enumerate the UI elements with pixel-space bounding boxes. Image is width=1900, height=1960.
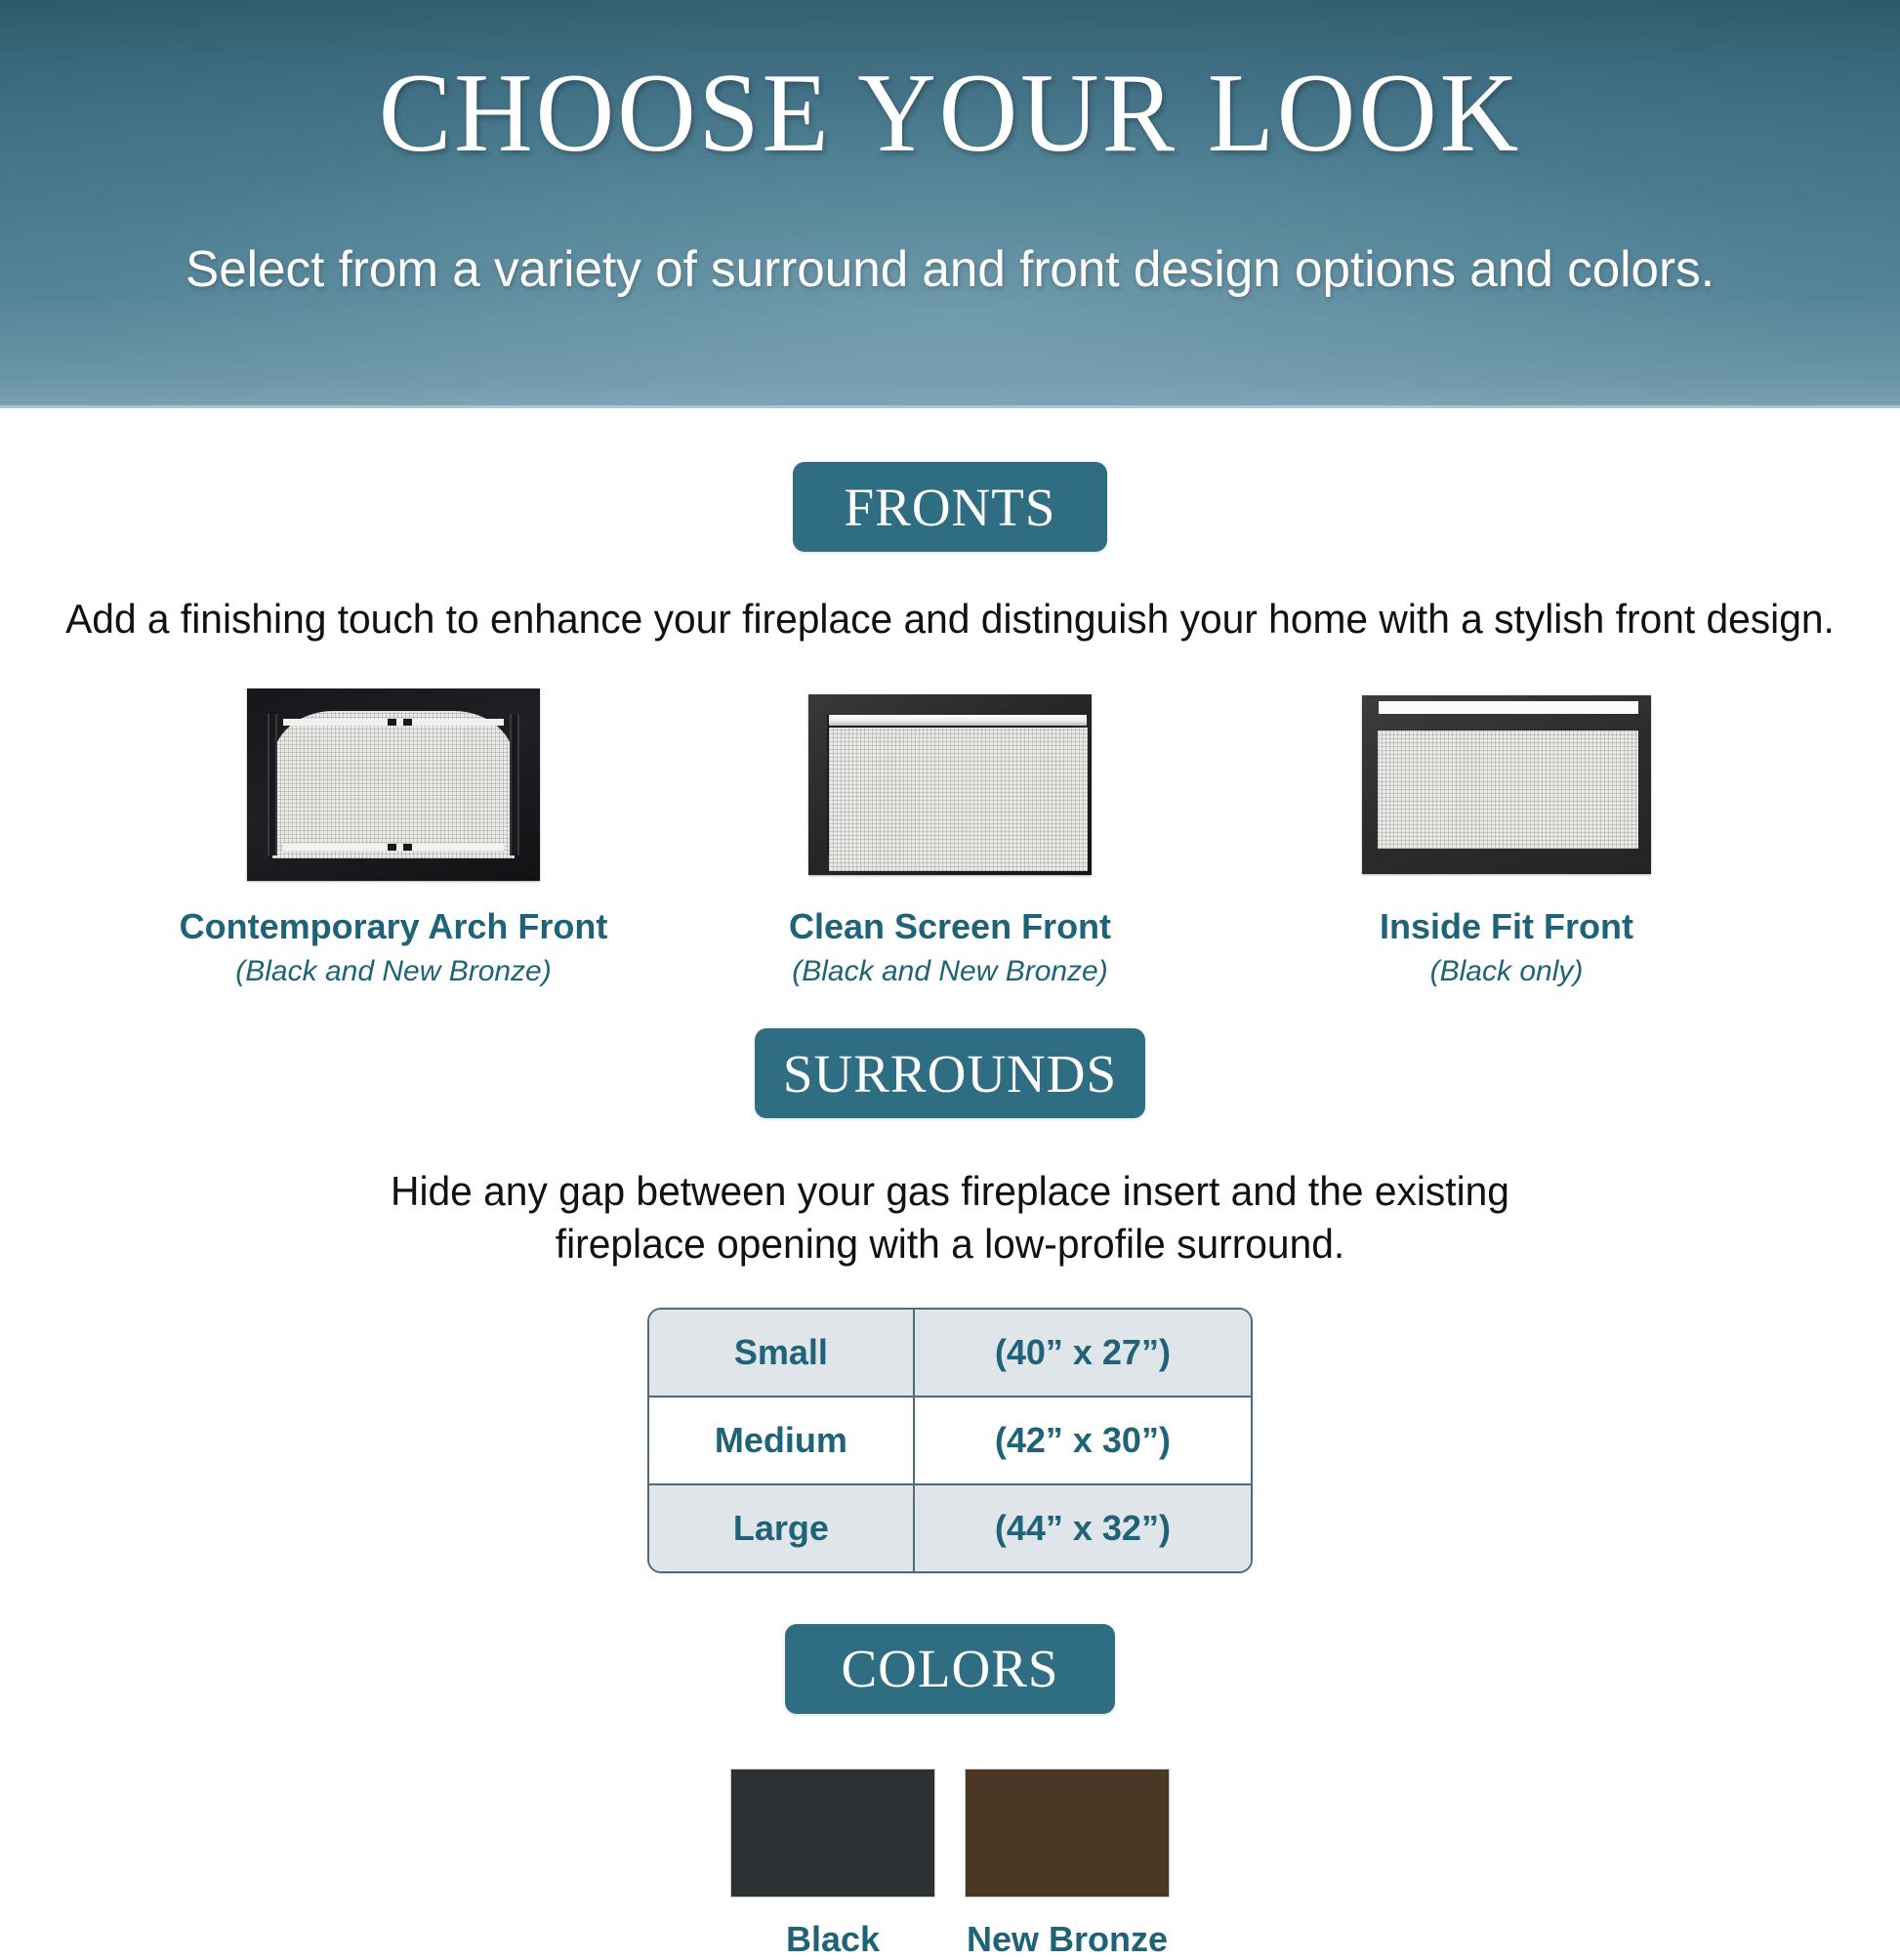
color-swatch-list: Black New Bronze — [0, 1769, 1900, 1960]
surround-size-dimensions: (40” x 27”) — [915, 1310, 1251, 1397]
page-content: FRONTS Add a finishing touch to enhance … — [0, 462, 1900, 1960]
color-option-new-bronze[interactable]: New Bronze — [965, 1769, 1170, 1960]
section-badge-fronts-label: FRONTS — [845, 477, 1056, 538]
inside-fit-front-image — [1362, 695, 1651, 874]
color-swatch-black[interactable] — [730, 1769, 935, 1897]
surround-size-label: Medium — [649, 1397, 915, 1485]
section-badge-surrounds: SURROUNDS — [755, 1028, 1145, 1118]
section-badge-surrounds-label: SURROUNDS — [783, 1043, 1117, 1105]
front-option-contemporary-arch[interactable]: Contemporary Arch Front (Black and New B… — [164, 683, 623, 988]
section-badge-colors: COLORS — [785, 1624, 1115, 1714]
section-badge-fronts: FRONTS — [793, 462, 1107, 552]
front-image-wrap — [1362, 683, 1651, 888]
chrome-trim-bar — [1379, 701, 1638, 714]
chrome-trim-bar — [829, 715, 1087, 726]
surround-sizes-table: Small (40” x 27”) Medium (42” x 30”) Lar… — [647, 1308, 1253, 1573]
section-badge-colors-label: COLORS — [842, 1638, 1059, 1699]
front-option-clean-screen[interactable]: Clean Screen Front (Black and New Bronze… — [721, 683, 1179, 988]
decor-side-left — [268, 714, 277, 855]
surround-size-dimensions: (44” x 32”) — [915, 1485, 1251, 1571]
page-title: CHOOSE YOUR LOOK — [28, 57, 1872, 169]
front-option-label: Clean Screen Front — [789, 907, 1111, 946]
table-row: Small (40” x 27”) — [649, 1310, 1251, 1397]
contemporary-arch-front-image — [247, 688, 540, 881]
color-swatch-label: New Bronze — [967, 1919, 1168, 1960]
table-row: Large (44” x 32”) — [649, 1485, 1251, 1571]
decor-notch — [388, 844, 396, 851]
decor-side-right — [510, 714, 519, 855]
front-option-inside-fit[interactable]: Inside Fit Front (Black only) — [1277, 683, 1736, 988]
table-row: Medium (42” x 30”) — [649, 1397, 1251, 1485]
decor-notch — [388, 719, 396, 726]
surround-size-label: Large — [649, 1485, 915, 1571]
page-subtitle: Select from a variety of surround and fr… — [15, 242, 1886, 298]
front-option-colors-note: (Black only) — [1430, 955, 1584, 987]
front-option-label: Contemporary Arch Front — [180, 907, 608, 946]
color-swatch-new-bronze[interactable] — [965, 1769, 1170, 1897]
front-image-wrap — [247, 683, 540, 888]
fronts-description: Add a finishing touch to enhance your fi… — [28, 593, 1872, 646]
front-option-colors-note: (Black and New Bronze) — [235, 955, 551, 987]
hero-banner: CHOOSE YOUR LOOK Select from a variety o… — [0, 0, 1900, 408]
surround-size-label: Small — [649, 1310, 915, 1397]
decor-notch — [403, 844, 412, 851]
decor-notch — [403, 719, 412, 726]
clean-screen-front-image — [808, 694, 1092, 875]
mesh-screen — [829, 728, 1088, 871]
color-swatch-label: Black — [786, 1919, 880, 1960]
front-option-label: Inside Fit Front — [1380, 907, 1633, 946]
surrounds-description: Hide any gap between your gas fireplace … — [335, 1165, 1566, 1271]
front-option-colors-note: (Black and New Bronze) — [792, 955, 1107, 987]
mesh-screen — [1378, 730, 1638, 849]
mesh-screen — [272, 711, 515, 858]
fronts-list: Contemporary Arch Front (Black and New B… — [0, 683, 1900, 988]
surround-size-dimensions: (42” x 30”) — [915, 1397, 1251, 1485]
front-image-wrap — [808, 683, 1092, 888]
color-option-black[interactable]: Black — [730, 1769, 935, 1960]
